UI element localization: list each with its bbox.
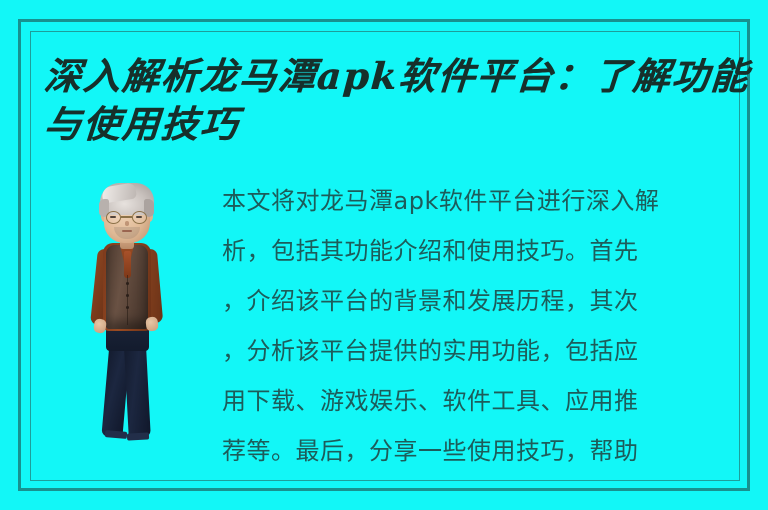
nose <box>125 221 129 226</box>
necktie <box>124 251 131 278</box>
body-line-4: ，分析该平台提供的实用功能，包括应 <box>222 326 740 376</box>
title-line-1: 深入解析龙马潭apk软件平台：了解功能 <box>42 52 745 100</box>
hand-left <box>93 318 107 334</box>
trouser-cuff-left <box>105 430 128 439</box>
glasses-bridge <box>121 216 132 218</box>
page-title: 深入解析龙马潭apk软件平台：了解功能 与使用技巧 <box>44 52 744 148</box>
hand-right <box>145 316 158 331</box>
body-line-2: 析，包括其功能介绍和使用技巧。首先 <box>222 226 740 276</box>
mouth <box>122 230 132 232</box>
body-paragraph: 本文将对龙马潭apk软件平台进行深入解 析，包括其功能介绍和使用技巧。首先 ，介… <box>222 176 740 476</box>
poster-canvas: 深入解析龙马潭apk软件平台：了解功能 与使用技巧 本文将对龙马潭apk软件平台… <box>0 0 768 510</box>
glasses-lens-left <box>106 211 121 224</box>
vest-button-1 <box>126 282 129 285</box>
character-illustration <box>84 183 168 467</box>
body-line-3: ，介绍该平台的背景和发展历程，其次 <box>222 276 740 326</box>
trouser-cuff-right <box>127 432 149 440</box>
vest-button-2 <box>126 294 129 297</box>
body-line-5: 用下载、游戏娱乐、软件工具、应用推 <box>222 376 740 426</box>
body-line-6: 荐等。最后，分享一些使用技巧，帮助 <box>222 426 740 476</box>
body-line-1: 本文将对龙马潭apk软件平台进行深入解 <box>222 176 740 226</box>
title-line-2: 与使用技巧 <box>42 100 745 148</box>
vest-button-3 <box>126 306 129 309</box>
glasses-lens-right <box>132 211 147 224</box>
